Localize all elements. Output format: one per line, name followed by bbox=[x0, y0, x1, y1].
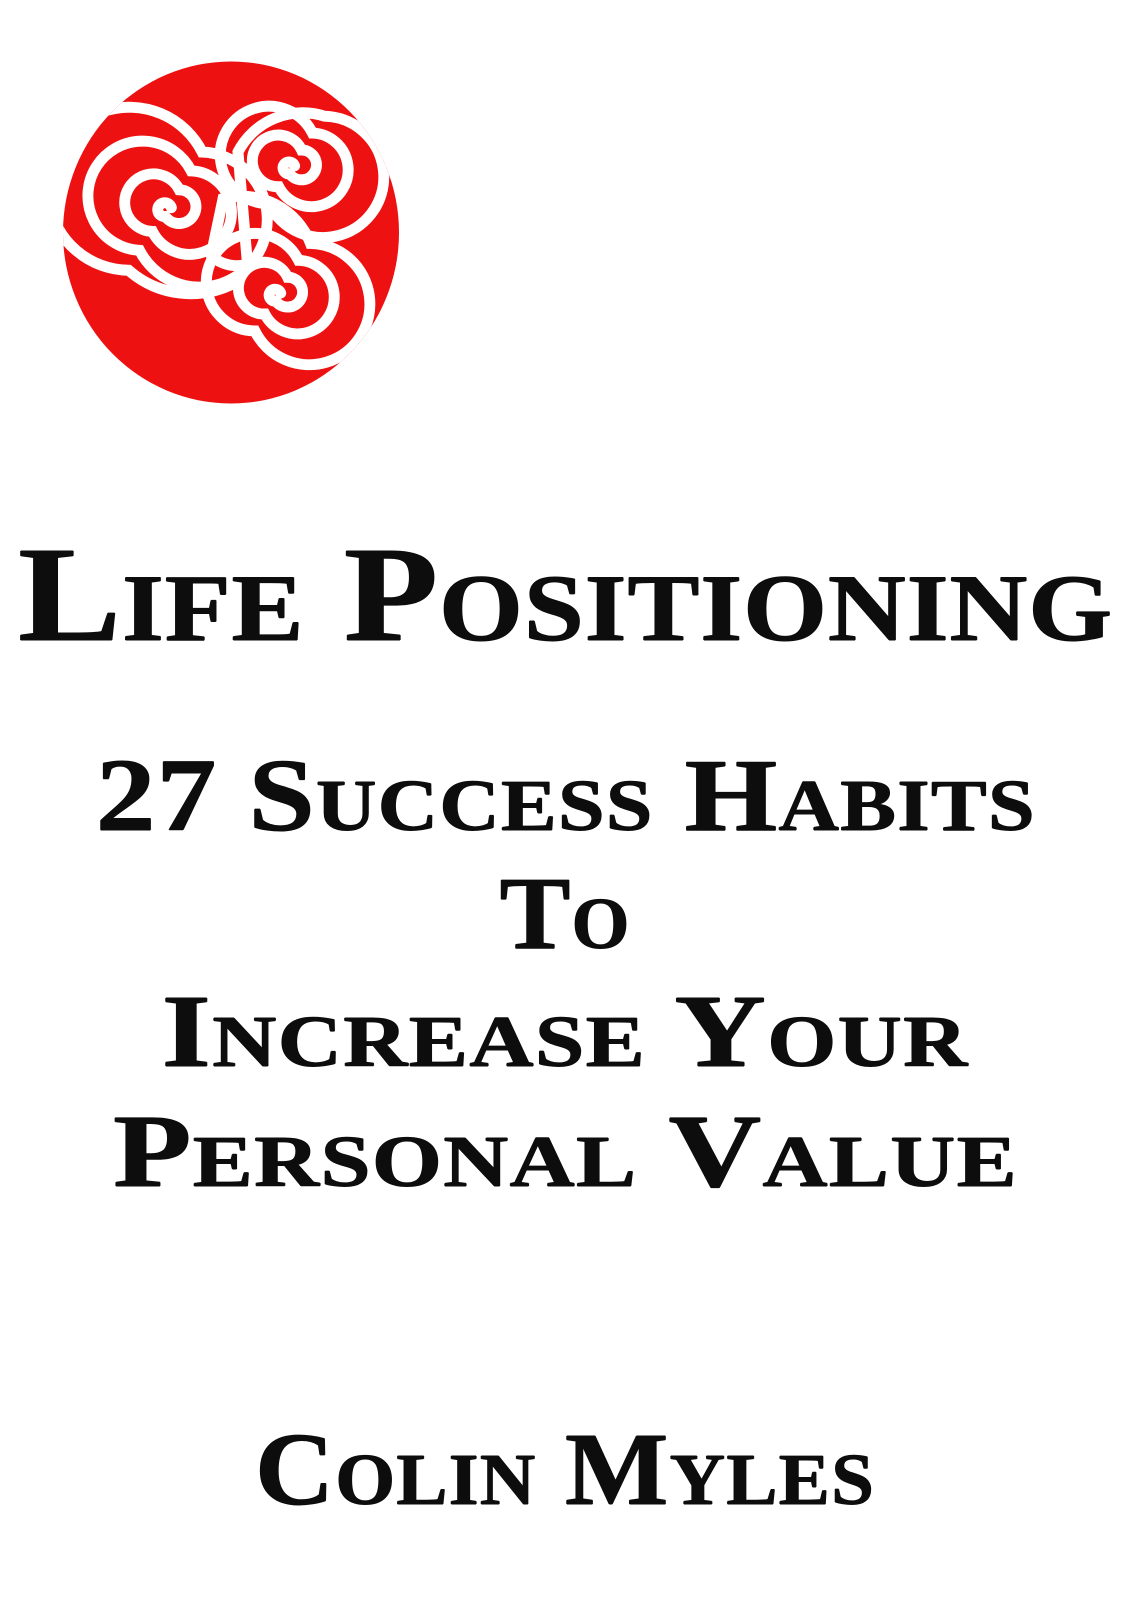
triple-spiral-logo bbox=[62, 60, 400, 405]
book-cover: Life Positioning 27 Success Habits To In… bbox=[0, 0, 1131, 1600]
author-name: Colin Myles bbox=[0, 1418, 1131, 1522]
subtitle-line-2: To bbox=[0, 862, 1131, 966]
triskelion-icon bbox=[62, 60, 400, 405]
page-title: Life Positioning bbox=[0, 527, 1131, 663]
subtitle-line-1: 27 Success Habits bbox=[0, 744, 1131, 848]
subtitle-line-3: Increase Your bbox=[0, 980, 1131, 1084]
subtitle-line-4: Personal Value bbox=[0, 1100, 1131, 1204]
